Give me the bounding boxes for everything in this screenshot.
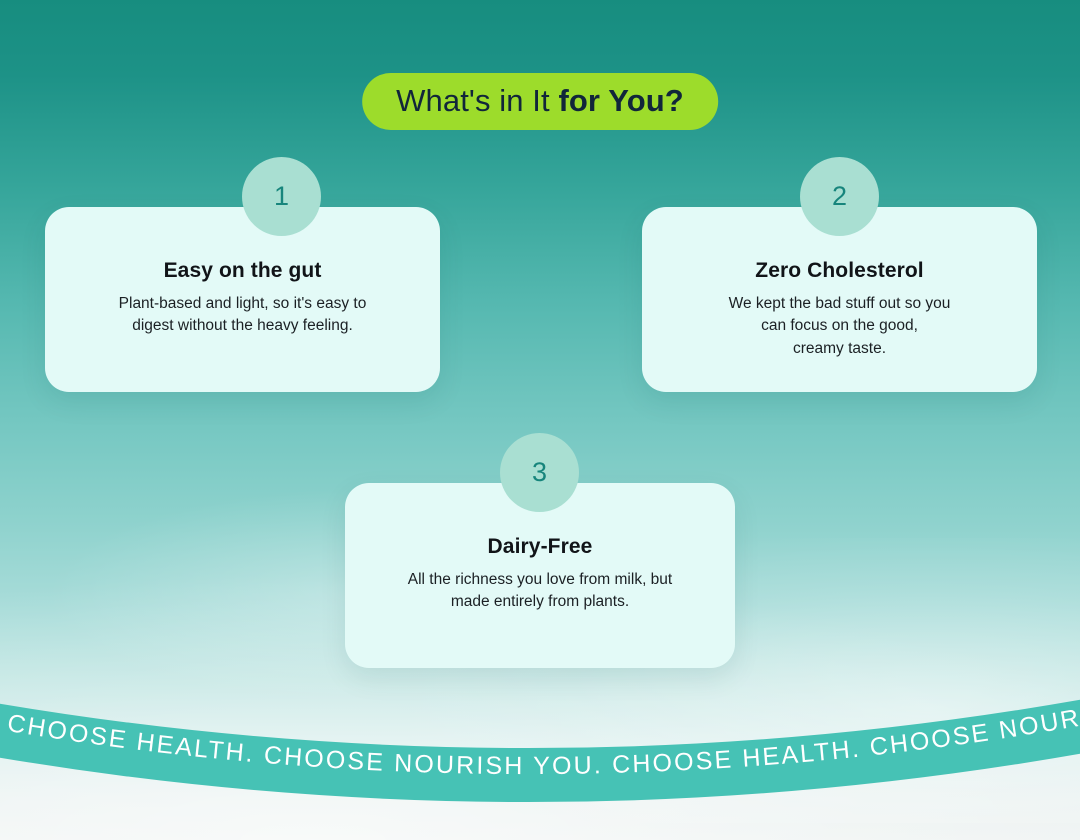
page-title-accent: for You? xyxy=(558,83,683,118)
benefit-title-2: Zero Cholesterol xyxy=(660,259,1019,283)
benefit-card-body-2: Zero Cholesterol We kept the bad stuff o… xyxy=(642,259,1037,360)
infographic-canvas: What's in It for You? 1 Easy on the gut … xyxy=(0,0,1080,840)
benefit-card-3: 3 Dairy-Free All the richness you love f… xyxy=(345,483,735,668)
benefit-description-2: We kept the bad stuff out so you can foc… xyxy=(660,293,1019,360)
benefit-number-badge-3: 3 xyxy=(500,433,579,512)
benefit-number-badge-2: 2 xyxy=(800,157,879,236)
benefit-title-1: Easy on the gut xyxy=(63,259,422,283)
page-title-lead: What's in It xyxy=(396,83,558,118)
page-title-pill: What's in It for You? xyxy=(362,73,718,130)
benefit-card-body-1: Easy on the gut Plant-based and light, s… xyxy=(45,259,440,338)
bottom-ribbon: CHOOSE HEALTH. CHOOSE NOURISH YOU. CHOOS… xyxy=(0,690,1080,840)
benefit-card-1: 1 Easy on the gut Plant-based and light,… xyxy=(45,207,440,392)
benefit-description-1: Plant-based and light, so it's easy to d… xyxy=(63,293,422,338)
ribbon-textpath: CHOOSE HEALTH. CHOOSE NOURISH YOU. CHOOS… xyxy=(0,690,1080,780)
benefit-number-badge-1: 1 xyxy=(242,157,321,236)
benefit-title-3: Dairy-Free xyxy=(363,535,717,559)
benefit-card-2: 2 Zero Cholesterol We kept the bad stuff… xyxy=(642,207,1037,392)
benefit-card-body-3: Dairy-Free All the richness you love fro… xyxy=(345,535,735,614)
ribbon-text: CHOOSE HEALTH. CHOOSE NOURISH YOU. CHOOS… xyxy=(0,690,1080,780)
ribbon-band xyxy=(0,698,1080,802)
benefit-description-3: All the richness you love from milk, but… xyxy=(363,569,717,614)
page-title: What's in It for You? xyxy=(396,85,684,116)
